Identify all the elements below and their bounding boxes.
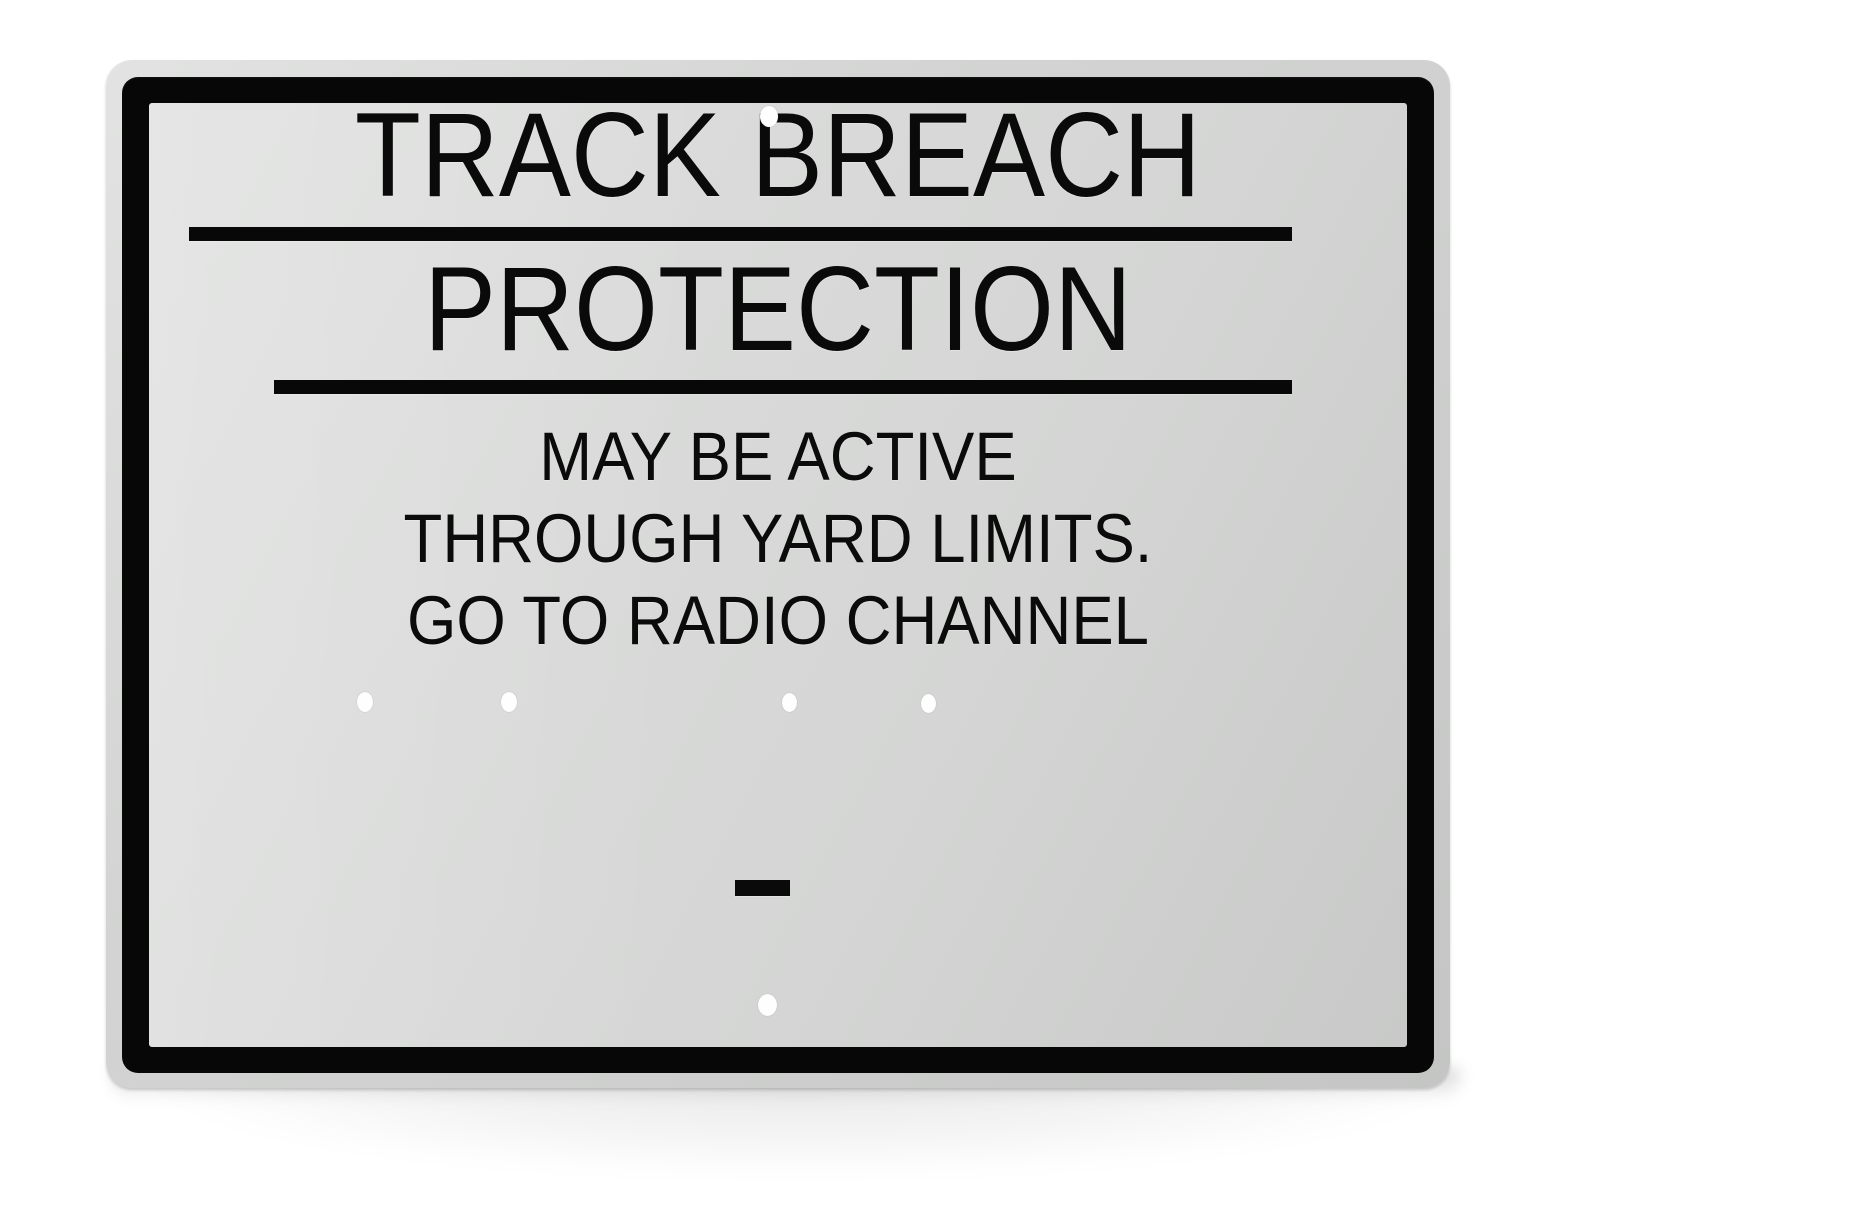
heading-underline-2 bbox=[274, 380, 1292, 394]
heading-track-breach: TRACK BREACH bbox=[188, 95, 1369, 215]
warning-sign-plate: TRACK BREACH PROTECTION MAY BE ACTIVE TH… bbox=[106, 60, 1450, 1088]
mounting-hole-row-right-1 bbox=[782, 693, 797, 712]
body-line-go-to-radio-channel: GO TO RADIO CHANNEL bbox=[174, 586, 1381, 655]
channel-placeholder-dash-icon bbox=[735, 880, 790, 896]
mounting-hole-row-right-2 bbox=[921, 694, 936, 713]
heading-protection: PROTECTION bbox=[188, 249, 1369, 369]
mounting-hole-bottom-center bbox=[758, 994, 777, 1016]
sign-black-border: TRACK BREACH PROTECTION MAY BE ACTIVE TH… bbox=[122, 77, 1434, 1073]
body-line-through-yard-limits: THROUGH YARD LIMITS. bbox=[174, 504, 1381, 573]
mounting-hole-top-center bbox=[760, 106, 778, 127]
sign-content: TRACK BREACH PROTECTION MAY BE ACTIVE TH… bbox=[122, 77, 1434, 1073]
body-line-may-be-active: MAY BE ACTIVE bbox=[174, 422, 1381, 491]
mounting-hole-row-left-2 bbox=[501, 692, 517, 712]
heading-underline-1 bbox=[189, 227, 1292, 241]
scene-background: TRACK BREACH PROTECTION MAY BE ACTIVE TH… bbox=[0, 0, 1849, 1217]
mounting-hole-row-left-1 bbox=[357, 692, 373, 712]
